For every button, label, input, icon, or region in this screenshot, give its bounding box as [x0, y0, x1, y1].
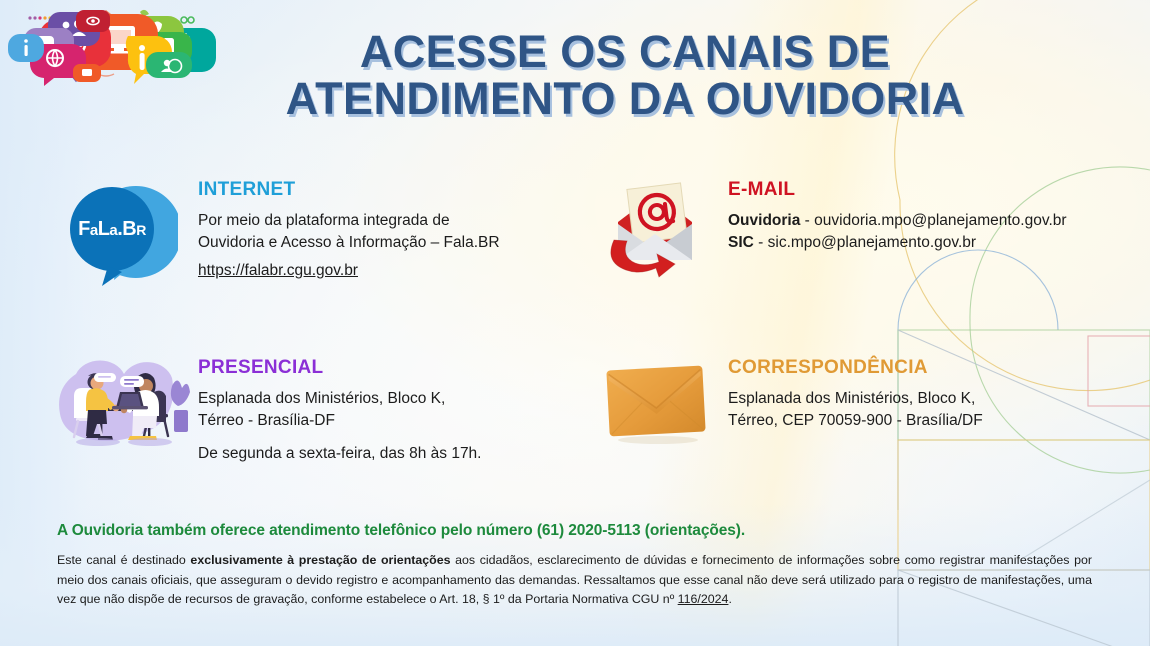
- email-sep-1: -: [754, 234, 768, 251]
- channel-email-heading: E-MAIL: [728, 180, 1067, 199]
- svg-text:FaLa.BR: FaLa.BR: [78, 218, 146, 240]
- channel-internet-line-2: Ouvidoria e Acesso à Informação – Fala.B…: [198, 232, 500, 254]
- channel-correspondencia-line-1: Esplanada dos Ministérios, Bloco K,: [728, 388, 983, 410]
- falabr-speech-bubble-logo: FaLa.BR: [60, 178, 178, 286]
- email-sep-0: -: [800, 212, 814, 229]
- channel-email: E-MAIL Ouvidoria - ouvidoria.mpo@planeja…: [600, 178, 1120, 298]
- email-label-sic: SIC: [728, 234, 754, 251]
- title-line-1: ACESSE OS CANAIS DE: [230, 28, 1020, 75]
- channel-presencial-hours: De segunda a sexta-feira, das 8h às 17h.: [198, 443, 482, 465]
- channel-correspondencia-heading: CORRESPONDÊNCIA: [728, 358, 983, 377]
- email-label-ouvidoria: Ouvidoria: [728, 212, 800, 229]
- falabr-link[interactable]: https://falabr.cgu.gov.br: [198, 260, 358, 282]
- channel-email-body: E-MAIL Ouvidoria - ouvidoria.mpo@planeja…: [728, 180, 1067, 254]
- red-envelope-at-sign-icon: [600, 178, 710, 278]
- channel-presencial: PRESENCIAL Esplanada dos Ministérios, Bl…: [54, 356, 564, 476]
- channel-presencial-body: PRESENCIAL Esplanada dos Ministérios, Bl…: [198, 358, 482, 465]
- email-value-sic: sic.mpo@planejamento.gov.br: [768, 234, 976, 251]
- channel-presencial-line-2: Térreo - Brasília-DF: [198, 410, 482, 432]
- footer-phone-heading: A Ouvidoria também oferece atendimento t…: [57, 522, 1092, 540]
- title-line-2: ATENDIMENTO DA OUVIDORIA: [230, 75, 1020, 122]
- channel-correspondencia-body: CORRESPONDÊNCIA Esplanada dos Ministério…: [728, 358, 983, 432]
- email-entry-sic: SIC - sic.mpo@planejamento.gov.br: [728, 232, 1067, 254]
- email-entry-ouvidoria: Ouvidoria - ouvidoria.mpo@planejamento.g…: [728, 210, 1067, 232]
- page-title: ACESSE OS CANAIS DE ATENDIMENTO DA OUVID…: [230, 28, 1020, 123]
- footer-disclaimer: Este canal é destinado exclusivamente à …: [57, 551, 1092, 610]
- footer-portaria-number: 116/2024: [678, 592, 729, 606]
- channel-internet-body: INTERNET Por meio da plataforma integrad…: [198, 180, 500, 282]
- channel-internet: FaLa.BR INTERNET Por meio da plataforma …: [60, 178, 560, 308]
- footer-part-1: Este canal é destinado: [57, 553, 190, 567]
- channel-presencial-heading: PRESENCIAL: [198, 358, 482, 377]
- channel-correspondencia-line-2: Térreo, CEP 70059-900 - Brasília/DF: [728, 410, 983, 432]
- channel-internet-heading: INTERNET: [198, 180, 500, 199]
- two-people-at-table-illustration: [54, 356, 194, 452]
- orange-envelope-icon: [600, 356, 712, 448]
- ouvidoria-channels-poster: ACESSE OS CANAIS DE ATENDIMENTO DA OUVID…: [0, 0, 1150, 646]
- footer-bold-phrase: exclusivamente à prestação de orientaçõe…: [190, 553, 450, 567]
- footer: A Ouvidoria também oferece atendimento t…: [57, 522, 1092, 610]
- speech-bubbles-cluster-logo: [8, 6, 224, 86]
- channel-correspondencia: CORRESPONDÊNCIA Esplanada dos Ministério…: [600, 356, 1120, 466]
- channel-presencial-line-1: Esplanada dos Ministérios, Bloco K,: [198, 388, 482, 410]
- footer-part-3: .: [728, 592, 731, 606]
- email-value-ouvidoria: ouvidoria.mpo@planejamento.gov.br: [814, 212, 1066, 229]
- channel-internet-line-1: Por meio da plataforma integrada de: [198, 210, 500, 232]
